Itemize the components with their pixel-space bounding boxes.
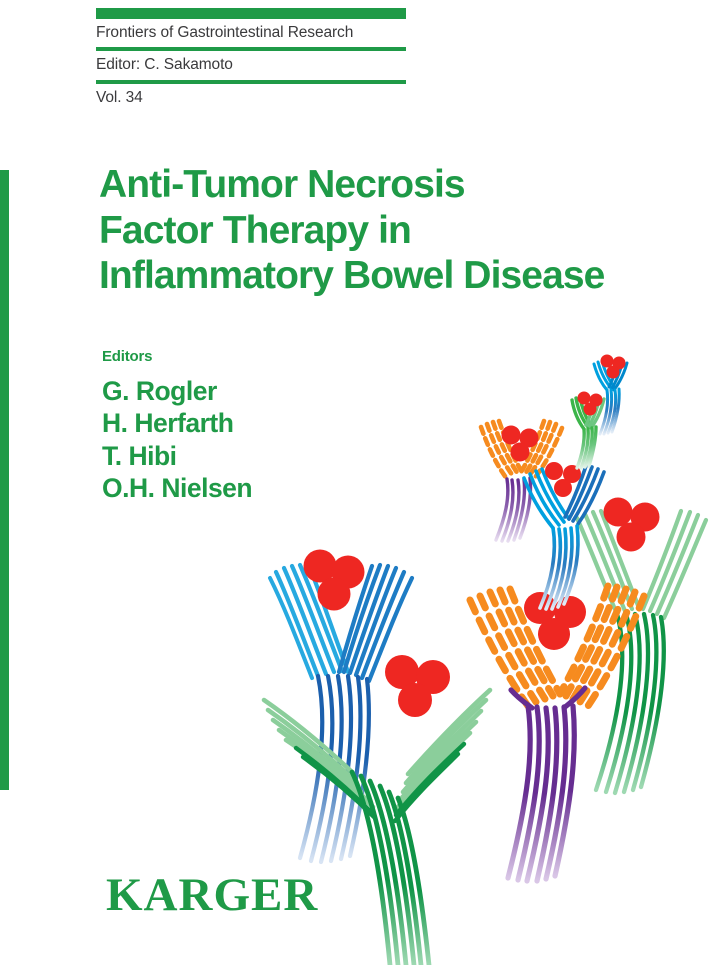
antibody-orange-purple-large bbox=[470, 586, 644, 881]
antibody-green-small bbox=[572, 396, 604, 468]
title-line-1: Anti-Tumor Necrosis bbox=[99, 162, 699, 208]
antibody-blue-large bbox=[270, 565, 412, 862]
antibody-blue-medium bbox=[524, 466, 604, 609]
orange-arm-left bbox=[470, 589, 560, 706]
series-editor: Editor: C. Sakamoto bbox=[96, 51, 406, 79]
editor-name: T. Hibi bbox=[102, 440, 252, 472]
antigen-cluster-green bbox=[385, 655, 450, 717]
antigen-cluster-green-right bbox=[604, 498, 660, 552]
series-title: Frontiers of Gastrointestinal Research bbox=[96, 19, 406, 47]
antibody-green-right bbox=[577, 511, 706, 793]
antigen-cluster-green-small bbox=[578, 392, 603, 416]
series-volume: Vol. 34 bbox=[96, 84, 406, 112]
antibody-green-large bbox=[264, 690, 490, 965]
title-line-2: Factor Therapy in bbox=[99, 208, 699, 254]
antibody-orange-purple-medium bbox=[481, 421, 562, 541]
antigen-cluster-mid-orange bbox=[502, 426, 539, 462]
antigen-cluster-mid-blue bbox=[545, 462, 581, 497]
header-rule-top bbox=[96, 8, 406, 19]
antigen-cluster-blue bbox=[304, 550, 365, 611]
antigen-cluster-orange bbox=[524, 592, 586, 650]
book-cover: Frontiers of Gastrointestinal Research E… bbox=[0, 0, 720, 965]
title-line-3: Inflammatory Bowel Disease bbox=[99, 253, 699, 299]
editor-name: H. Herfarth bbox=[102, 407, 252, 439]
editors-label: Editors bbox=[102, 348, 252, 365]
orange-arm-right bbox=[560, 586, 644, 706]
karger-logo: KARGER bbox=[106, 868, 318, 922]
antibody-cyan-small bbox=[594, 360, 627, 434]
editors-block: Editors G. Rogler H. Herfarth T. Hibi O.… bbox=[102, 348, 252, 504]
left-accent-rule bbox=[0, 170, 9, 790]
book-title: Anti-Tumor Necrosis Factor Therapy in In… bbox=[99, 162, 699, 299]
antigen-cluster-cyan-small bbox=[601, 355, 626, 379]
editor-name: G. Rogler bbox=[102, 375, 252, 407]
editor-name: O.H. Nielsen bbox=[102, 472, 252, 504]
series-header: Frontiers of Gastrointestinal Research E… bbox=[96, 8, 406, 112]
